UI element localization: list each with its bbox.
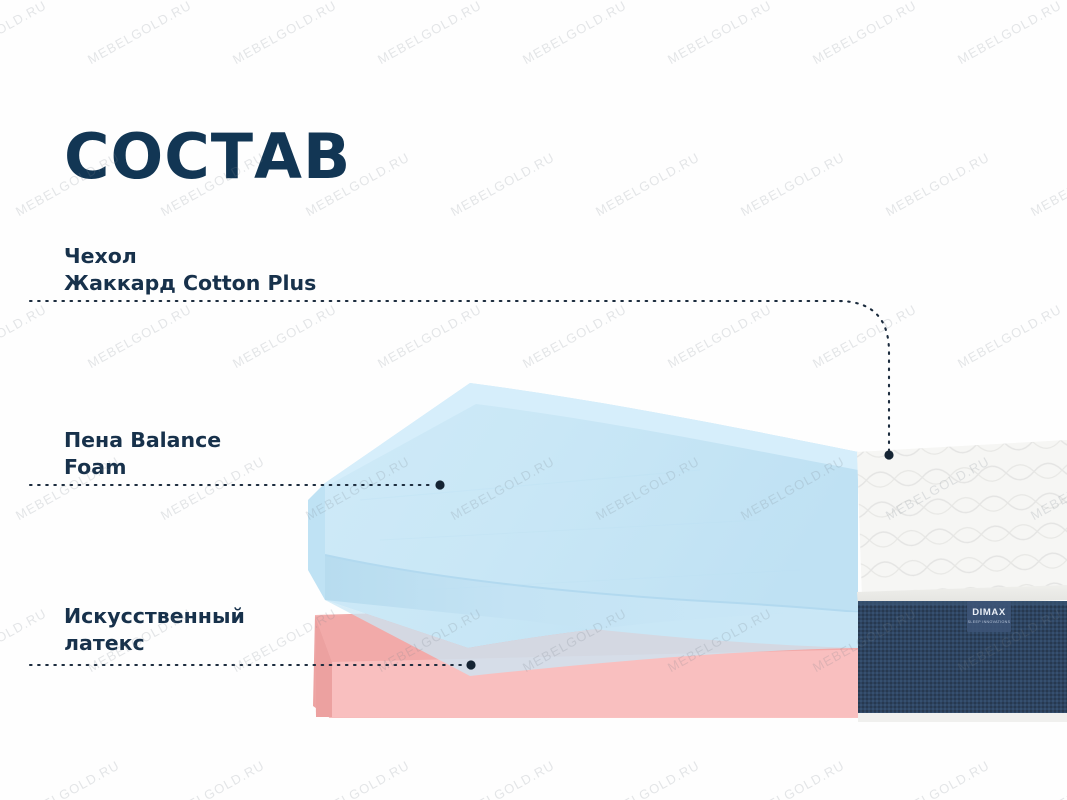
label-latex: Искусственный латекс — [64, 603, 245, 657]
cover-bottom-strip — [858, 713, 1067, 722]
brand-badge: DIMAX SLEEP INNOVATIONS — [967, 601, 1011, 632]
brand-sub-label: SLEEP INNOVATIONS — [968, 620, 1011, 624]
label-foam: Пена Balance Foam — [64, 427, 221, 481]
cover-navy-band — [858, 601, 1067, 713]
layer-cover: DIMAX SLEEP INNOVATIONS — [857, 440, 1067, 722]
page-title: СОСТАВ — [64, 126, 351, 188]
label-cover: Чехол Жаккард Cotton Plus — [64, 243, 316, 297]
cover-quilt-wash — [857, 440, 1067, 596]
layer-foam — [308, 383, 858, 676]
illustration-canvas: DIMAX SLEEP INNOVATIONS СОСТАВ Чехол Жак… — [0, 0, 1067, 800]
foam-left-bevel — [308, 483, 325, 600]
brand-label: DIMAX — [972, 607, 1006, 618]
cover-band-sheen — [858, 601, 1067, 605]
